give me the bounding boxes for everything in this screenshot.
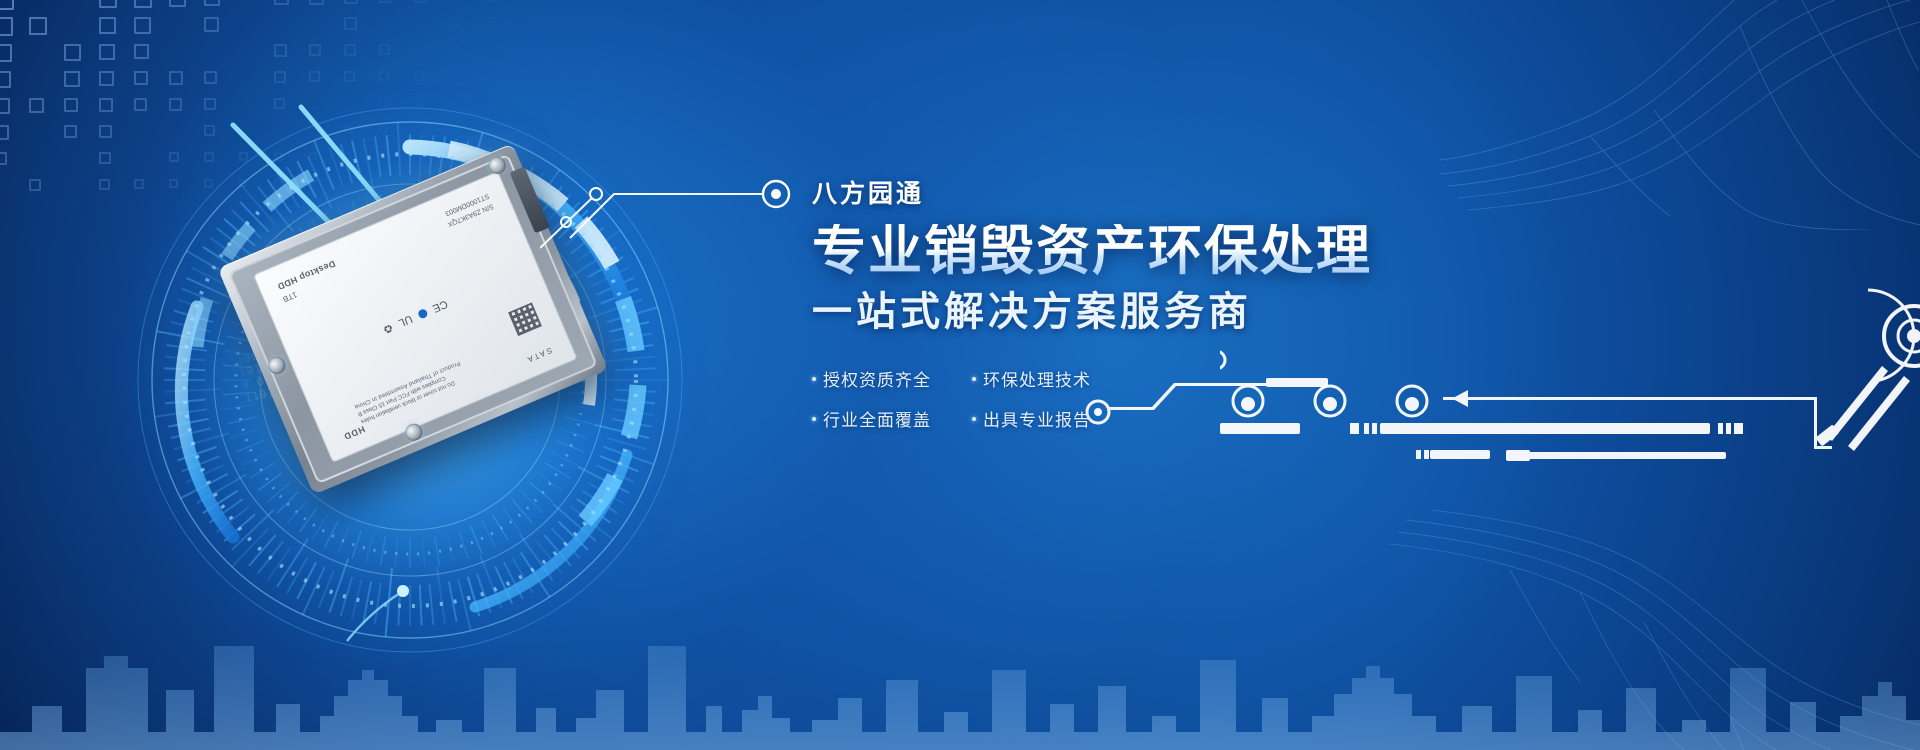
ul-mark-icon: UL <box>397 313 415 330</box>
feature-list: 授权资质齐全 环保处理技术 行业全面覆盖 出具专业报告 <box>812 366 1592 431</box>
city-skyline-silhouette <box>0 520 1920 750</box>
bullet-dot-icon <box>812 417 816 421</box>
certification-marks: CE UL ♻ <box>381 297 450 336</box>
feature-label: 出具专业报告 <box>983 406 1091 431</box>
bullet-dot-icon <box>812 377 816 381</box>
qr-code-icon <box>508 302 542 336</box>
brand-name: 八方园通 <box>812 182 1592 207</box>
blue-dot-icon <box>417 308 429 320</box>
feature-label: 行业全面覆盖 <box>823 406 931 431</box>
hdd-interface-text: SATA <box>525 345 554 364</box>
feature-label: 环保处理技术 <box>983 366 1091 391</box>
promo-banner: 1001 0010 1001 1000 1011 0011 1011 001 0… <box>0 0 1920 750</box>
banner-copy-block: 八方园通 专业销毁资产环保处理 一站式解决方案服务商 授权资质齐全 环保处理技术… <box>812 182 1592 431</box>
recycle-icon: ♻ <box>381 321 395 337</box>
hdd-brand-text: Desktop HDD <box>276 258 337 291</box>
feature-item: 授权资质齐全 <box>812 366 950 391</box>
headline-text: 专业销毁资产环保处理 <box>812 224 1592 278</box>
bullet-dot-icon <box>972 417 976 421</box>
feature-item: 行业全面覆盖 <box>812 406 950 431</box>
subheadline-text: 一站式解决方案服务商 <box>812 292 1592 332</box>
ce-mark-icon: CE <box>431 298 450 315</box>
bullet-dot-icon <box>972 377 976 381</box>
feature-label: 授权资质齐全 <box>823 366 931 391</box>
callout-pointer-line <box>540 160 830 250</box>
hdd-capacity-text: 1TB <box>281 290 298 304</box>
feature-item: 出具专业报告 <box>972 406 1110 431</box>
hdd-type-text: HDD <box>342 424 367 442</box>
feature-item: 环保处理技术 <box>972 366 1110 391</box>
